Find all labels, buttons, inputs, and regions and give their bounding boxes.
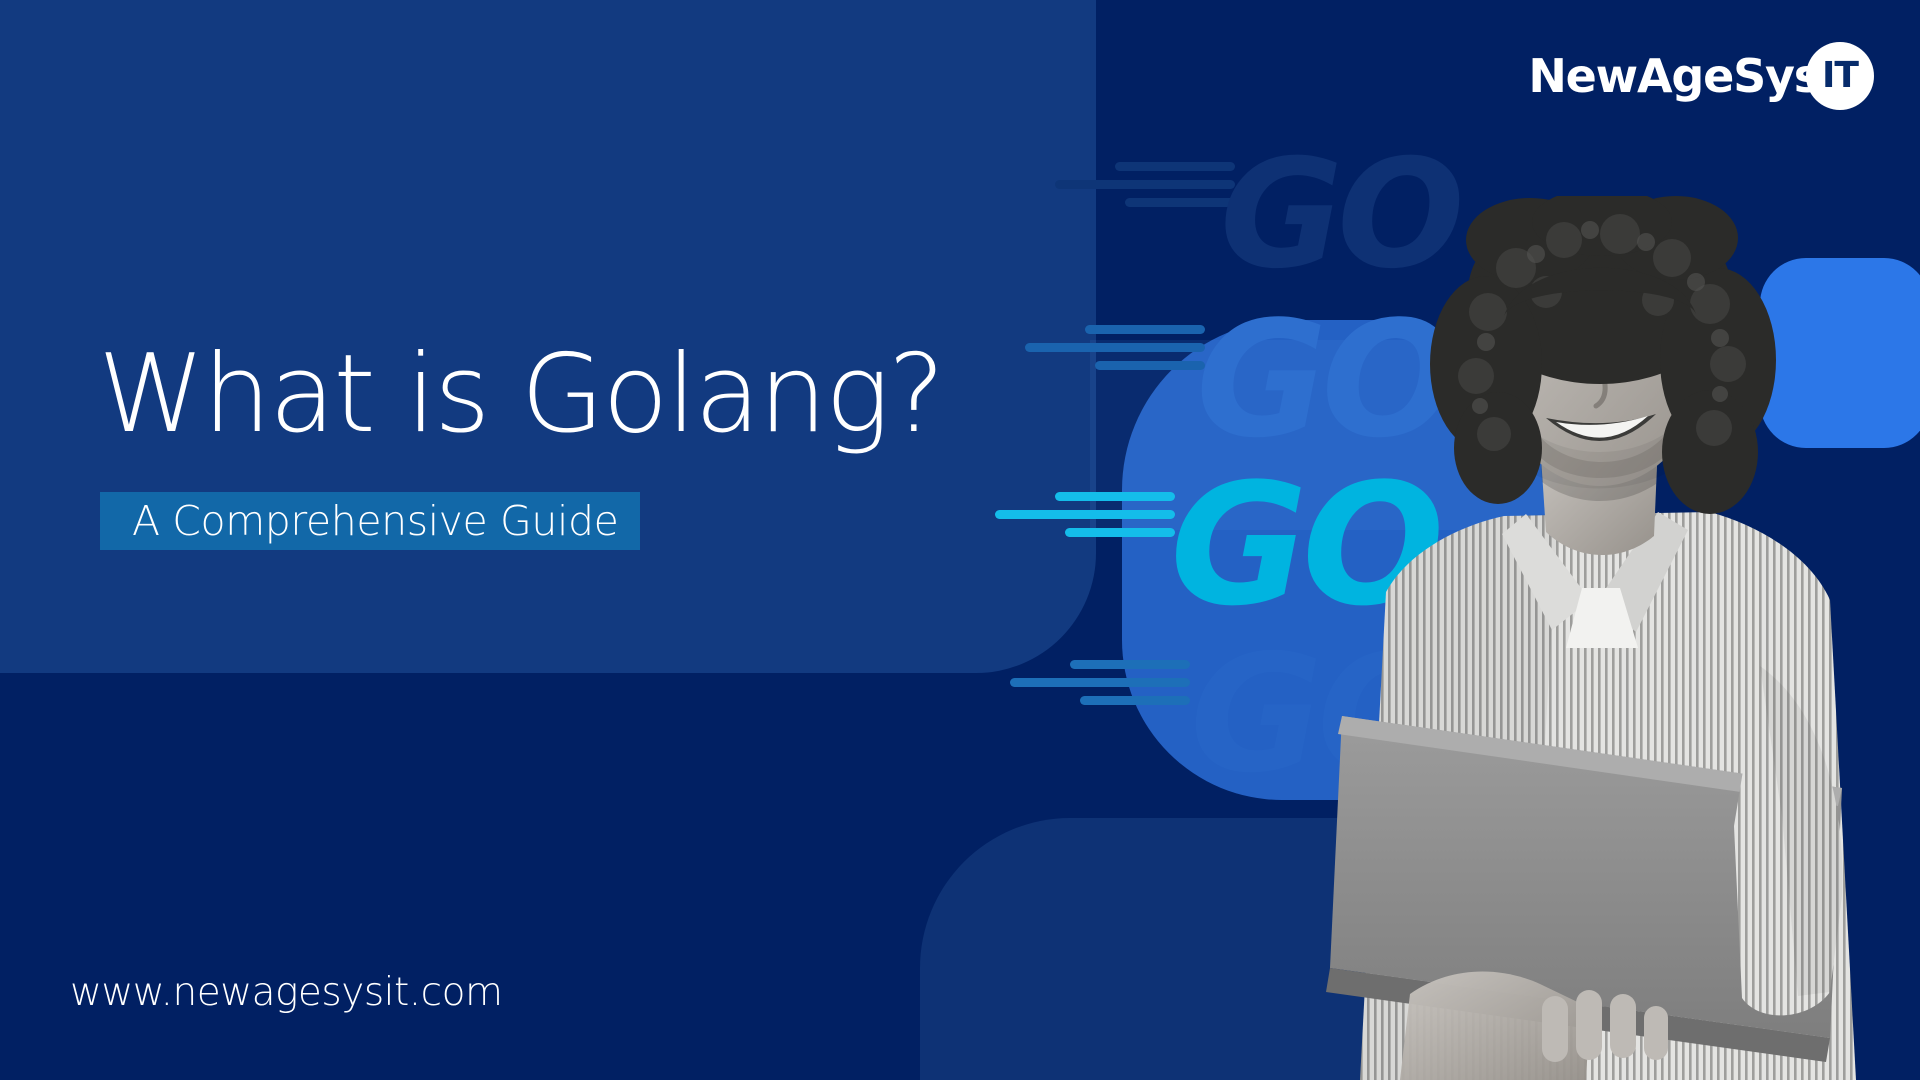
speed-lines-2 — [1025, 325, 1205, 370]
person-photo — [1290, 196, 1920, 1080]
speed-lines-4 — [1010, 660, 1190, 705]
logo-wordmark: NewAgeSys — [1528, 53, 1820, 99]
logo-badge-label: IT — [1822, 58, 1858, 94]
brand-logo[interactable]: NewAgeSys IT — [1528, 40, 1874, 112]
speed-lines-1 — [1055, 162, 1235, 207]
subtitle-highlight-bar: A Comprehensive Guide — [100, 492, 640, 550]
page-subtitle: A Comprehensive Guide — [132, 501, 618, 542]
banner-root: GO GO GO GO — [0, 0, 1920, 1080]
page-title: What is Golang? — [98, 338, 943, 451]
logo-it-badge: IT — [1806, 42, 1874, 110]
speed-lines-3 — [995, 492, 1175, 537]
website-url[interactable]: www.newagesysit.com — [70, 970, 502, 1015]
